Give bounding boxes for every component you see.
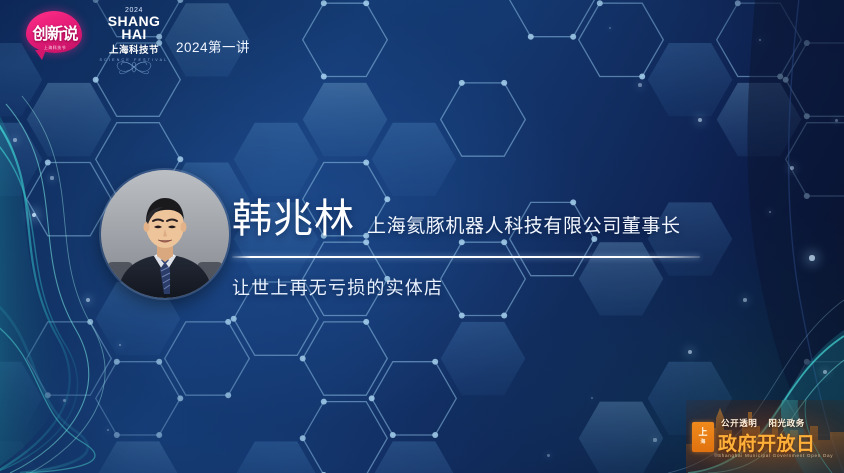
seal-line2: 海: [700, 437, 705, 447]
particle-dot: [119, 344, 122, 347]
gov-slogan-left: 公开透明: [718, 416, 760, 430]
particle-dot: [698, 118, 702, 122]
particle-dot: [769, 211, 772, 214]
gov-slogan-row: 公开透明 阳光政务: [718, 416, 808, 430]
lecture-caption: 2024第一讲: [176, 36, 250, 56]
particle-dot: [63, 399, 66, 402]
speaker-name-block: 韩兆林 上海氦豚机器人科技有限公司董事长 让世上再无亏损的实体店: [232, 196, 700, 300]
butterfly-mark-icon: [112, 56, 156, 78]
gov-slogan-right: 阳光政务: [765, 416, 807, 430]
particle-dot: [50, 176, 53, 179]
portrait-illustration: [101, 170, 229, 298]
presentation-slide: 创新说 上海科技节 2024 SHANG HAI 上海科技节 SCIENCE F…: [0, 0, 844, 473]
seal-line1: 上: [698, 427, 707, 437]
particle-dot: [688, 350, 692, 354]
shanghai-science-festival-logo: 2024 SHANG HAI 上海科技节 SCIENCE FESTIVAL: [96, 4, 172, 76]
particle-dot: [547, 454, 550, 457]
particle-dot: [107, 429, 109, 431]
particle-dot: [13, 138, 17, 142]
particle-dot: [809, 255, 814, 260]
particle-dot: [591, 397, 594, 400]
chuangxinshuo-sublabel: 上海科技节: [24, 45, 86, 51]
speaker-tagline: 让世上再无亏损的实体店: [232, 274, 700, 300]
particle-dot: [653, 438, 656, 441]
shanghai-seal-icon: 上 海: [692, 422, 714, 452]
particle-dot: [835, 119, 838, 122]
particle-dot: [638, 83, 642, 87]
slide-header: 创新说 上海科技节 2024 SHANG HAI 上海科技节 SCIENCE F…: [0, 0, 844, 78]
speaker-title: 上海氦豚机器人科技有限公司董事长: [367, 204, 681, 250]
festival-name-line2: HAI: [96, 28, 172, 41]
particle-dot: [823, 370, 827, 374]
festival-name-chinese: 上海科技节: [96, 42, 172, 56]
gov-open-day-title: 政府开放日: [718, 429, 816, 456]
particle-dot: [743, 298, 747, 302]
particle-dot: [790, 166, 794, 170]
gov-open-day-english: Shanghai Municipal Government Open Day: [718, 453, 833, 458]
speaker-name: 韩兆林: [232, 196, 355, 242]
chuangxinshuo-logo: 创新说 上海科技节: [24, 7, 86, 57]
particle-dot: [32, 213, 37, 218]
name-divider: [232, 256, 700, 258]
wave-body-left: [0, 100, 63, 473]
speaker-portrait: [101, 170, 229, 298]
particle-dot: [86, 298, 90, 302]
government-open-day-badge: 上 海 公开透明 阳光政务 政府开放日 Shanghai Municipal G…: [686, 400, 844, 473]
